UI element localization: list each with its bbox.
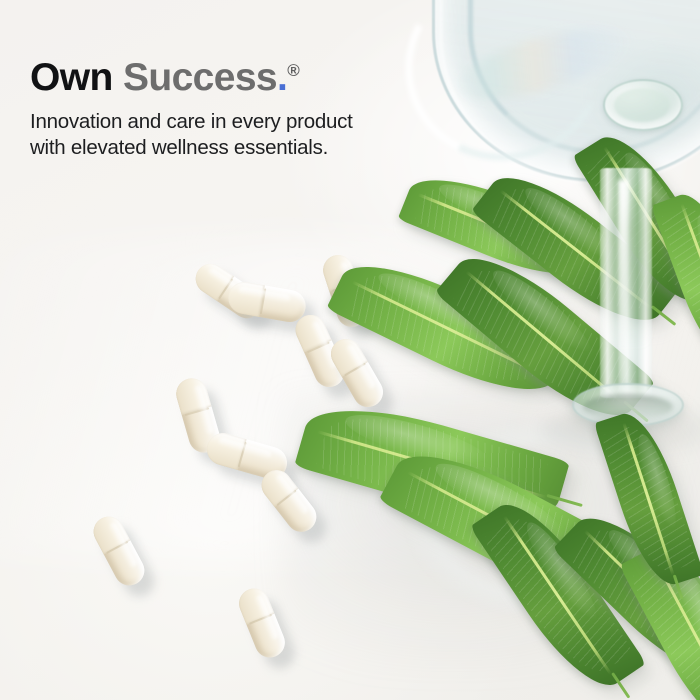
subheadline-line-1: Innovation and care in every product [30, 109, 353, 135]
headline-accent-period: . [277, 56, 287, 99]
product-banner: Own Success.® Innovation and care in eve… [0, 0, 700, 700]
headline: Own Success.® [30, 58, 353, 99]
text-block: Own Success.® Innovation and care in eve… [30, 58, 353, 161]
subheadline: Innovation and care in every product wit… [30, 109, 353, 161]
headline-word-success: Success [113, 56, 277, 99]
headline-word-own: Own [30, 56, 113, 99]
subheadline-line-2: with elevated wellness essentials. [30, 135, 353, 161]
registered-trademark-icon: ® [287, 61, 299, 80]
glass-droplet-core [614, 88, 670, 122]
glass-stem-highlight [618, 180, 628, 390]
